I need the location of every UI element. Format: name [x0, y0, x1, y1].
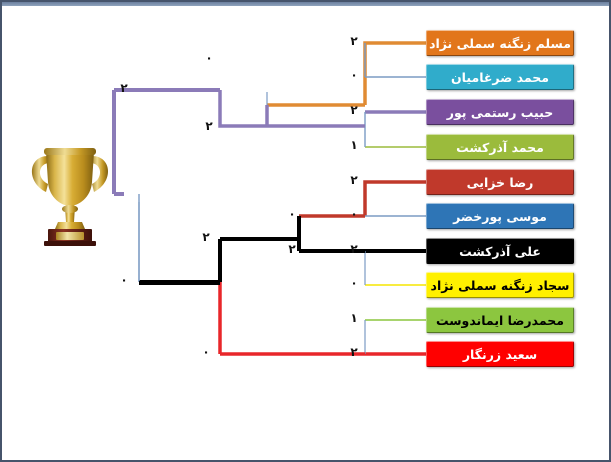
player-name: سجاد زنگنه سملی نژاد [431, 278, 570, 293]
player-box-moslem-zanganeh[interactable]: مسلم زنگنه سملی نژاد [426, 30, 574, 56]
score-m4-p1: ۲ [347, 243, 361, 255]
player-box-mohammadreza-imandoost[interactable]: محمدرضا ایماندوست [426, 307, 574, 333]
player-box-mohammad-zarghamian[interactable]: محمد ضرغامیان [426, 64, 574, 90]
player-name: محمد آذرکشت [456, 140, 544, 155]
score-m3-p1: ۲ [347, 174, 361, 186]
score-m3-p2: ۰ [347, 208, 361, 220]
score-m5-p2: ۲ [347, 346, 361, 358]
score-q1-bottom: ۲ [202, 120, 216, 132]
score-q3-bottom: ۰ [199, 346, 213, 358]
bracket-frame: ۲ ۰ ۲ ۱ ۲ ۰ ۲ ۰ ۱ ۲ ۰ ۲ ۰ ۲ ۲ ۰ ۲ ۰ مسلم… [0, 0, 611, 462]
player-name: موسی پورخضر [453, 209, 547, 224]
player-box-sajad-zanganeh[interactable]: سجاد زنگنه سملی نژاد [426, 272, 574, 298]
score-final-bottom: ۰ [117, 274, 131, 286]
score-m1-p1: ۲ [347, 35, 361, 47]
player-box-mousa-pourkhezr[interactable]: موسی پورخضر [426, 203, 574, 229]
score-q1-top: ۰ [202, 52, 216, 64]
score-q2-top: ۰ [285, 208, 299, 220]
player-box-saeed-zarrangar[interactable]: سعید زرنگار [426, 341, 574, 367]
player-box-mohammad-azarkesht[interactable]: محمد آذرکشت [426, 134, 574, 160]
score-q2-bottom: ۲ [285, 243, 299, 255]
player-name: محمدرضا ایماندوست [436, 313, 564, 328]
player-name: مسلم زنگنه سملی نژاد [429, 36, 571, 51]
player-box-habib-rostami-pour[interactable]: حبیب رستمی پور [426, 99, 574, 125]
player-name: حبیب رستمی پور [447, 105, 554, 120]
score-m2-p2: ۱ [347, 139, 361, 151]
score-m2-p1: ۲ [347, 104, 361, 116]
score-m4-p2: ۰ [347, 277, 361, 289]
player-box-reza-khazaei[interactable]: رضا خزایی [426, 169, 574, 195]
score-m5-p1: ۱ [347, 312, 361, 324]
score-m1-p2: ۰ [347, 69, 361, 81]
score-final-top: ۲ [117, 82, 131, 94]
player-box-ali-azarkesht[interactable]: علی آذرکشت [426, 238, 574, 264]
player-name: علی آذرکشت [459, 244, 541, 259]
player-name: رضا خزایی [467, 175, 534, 190]
player-name: محمد ضرغامیان [451, 70, 549, 85]
score-q3-top: ۲ [199, 231, 213, 243]
player-name: سعید زرنگار [463, 347, 537, 362]
